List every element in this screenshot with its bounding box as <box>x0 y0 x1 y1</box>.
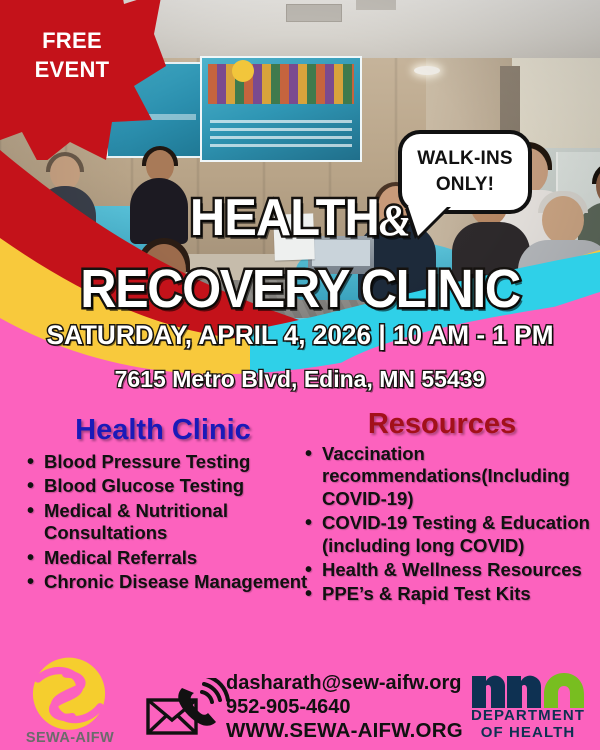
phone-icon <box>178 678 228 726</box>
health-clinic-heading: Health Clinic <box>18 414 308 447</box>
walkins-line-1: WALK-INS <box>417 146 513 172</box>
mn-department-of-health-logo: DEPARTMENT OF HEALTH <box>466 664 590 740</box>
contact-details: dasharath@sew-aifw.org 952-905-4640 WWW.… <box>226 672 466 743</box>
footer: SEWA-AIFW dasharath@sew-aifw.org 952-905… <box>0 650 600 750</box>
contact-website[interactable]: WWW.SEWA-AIFW.ORG <box>226 719 466 743</box>
mdh-label: DEPARTMENT OF HEALTH <box>466 708 590 742</box>
free-event-badge: FREE EVENT <box>0 0 166 160</box>
event-label: EVENT <box>12 55 132 84</box>
walk-ins-speech-bubble: WALK-INS ONLY! <box>398 130 532 214</box>
mdh-line-2: OF HEALTH <box>466 725 590 742</box>
list-item: Blood Glucose Testing <box>44 475 308 497</box>
speech-bubble-tail <box>408 206 448 236</box>
services-columns: Health Clinic Blood Pressure Testing Blo… <box>0 404 600 654</box>
walkins-line-2: ONLY! <box>436 172 494 198</box>
title-health: HEALTH <box>190 189 379 247</box>
list-item: Medical Referrals <box>44 547 308 569</box>
list-item: PPE’s & Rapid Test Kits <box>322 583 592 605</box>
free-label: FREE <box>12 26 132 55</box>
health-clinic-column: Health Clinic Blood Pressure Testing Blo… <box>18 404 308 595</box>
mdh-line-1: DEPARTMENT <box>466 708 590 725</box>
mn-wordmark-icon <box>466 664 590 710</box>
resources-column: Resources Vaccination recommendations(In… <box>292 404 592 608</box>
contact-phone[interactable]: 952-905-4640 <box>226 696 466 720</box>
list-item: Health & Wellness Resources <box>322 559 592 581</box>
contact-icons <box>146 678 230 736</box>
list-item: COVID-19 Testing & Education (including … <box>322 512 592 557</box>
list-item: Vaccination recommendations(Including CO… <box>322 443 592 510</box>
resources-heading: Resources <box>292 408 592 441</box>
list-item: Blood Pressure Testing <box>44 451 308 473</box>
page-title-line-2: RECOVERY CLINIC <box>21 258 579 320</box>
flyer-poster: HEALTH& RECOVERY CLINIC SATURDAY, APRIL … <box>0 0 600 750</box>
event-dateline: SATURDAY, APRIL 4, 2026 | 10 AM - 1 PM <box>9 320 591 351</box>
sewa-logo-icon <box>28 656 110 738</box>
sewa-logo-label: SEWA-AIFW <box>16 730 124 746</box>
contact-email[interactable]: dasharath@sew-aifw.org <box>226 672 466 696</box>
list-item: Chronic Disease Management <box>44 571 308 593</box>
resources-list: Vaccination recommendations(Including CO… <box>292 443 592 606</box>
list-item: Medical & Nutritional Consultations <box>44 500 308 545</box>
event-address: 7615 Metro Blvd, Edina, MN 55439 <box>0 366 600 393</box>
free-event-text: FREE EVENT <box>12 26 132 84</box>
health-clinic-list: Blood Pressure Testing Blood Glucose Tes… <box>18 451 308 593</box>
